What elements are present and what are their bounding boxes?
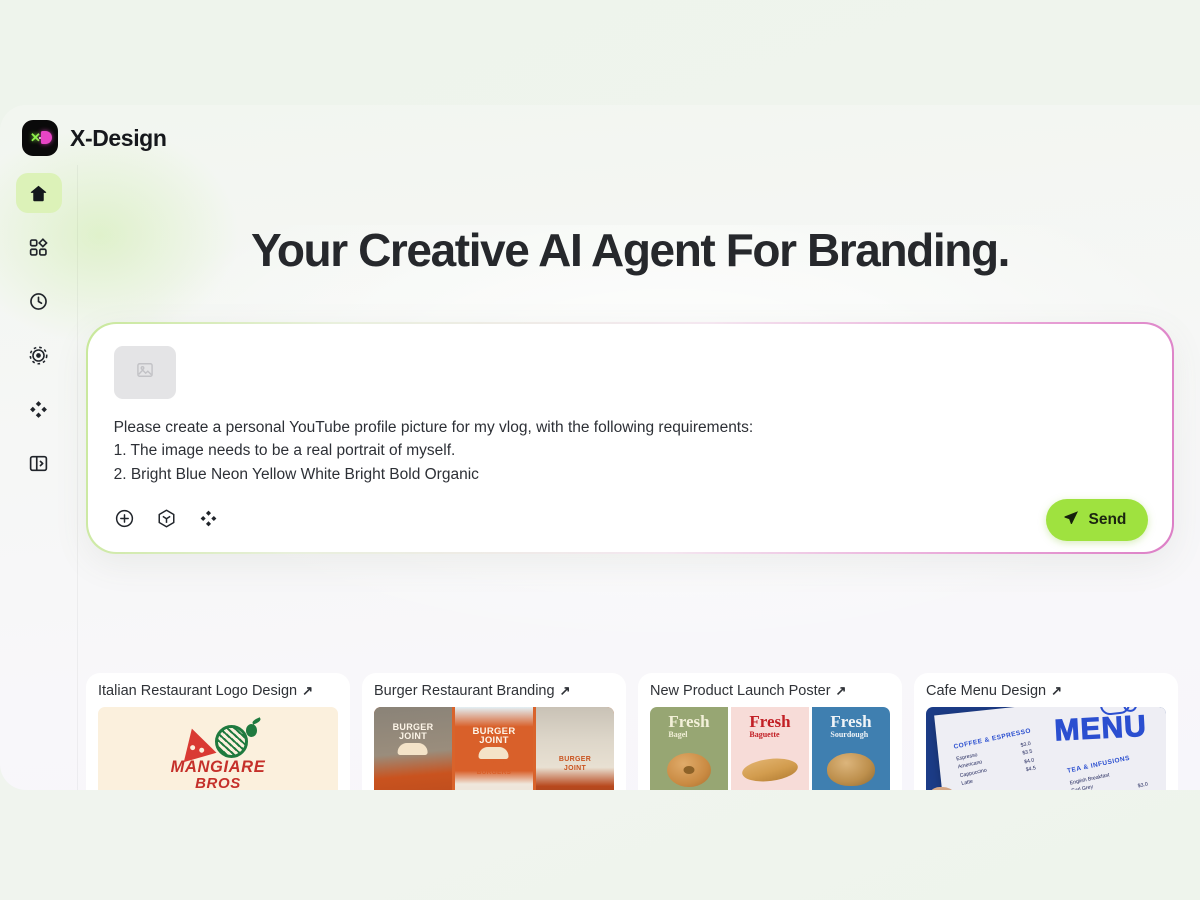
poster-bagel: Fresh Bagel Happiness [650, 707, 728, 790]
sidebar-item-panel-toggle[interactable] [16, 443, 62, 483]
poster-subtitle: Sourdough [830, 730, 871, 739]
prompt-line-1: Please create a personal YouTube profile… [114, 416, 1147, 440]
sidebar-item-history[interactable] [16, 281, 62, 321]
badge-line-2: JOINT [473, 736, 516, 745]
menu-item-price [1145, 772, 1147, 780]
burger-joint-badge: BURGER JOINT [393, 723, 434, 755]
gallery-card-title-text: Burger Restaurant Branding [374, 683, 555, 699]
menu-item-price [1143, 764, 1145, 772]
gallery-card-preview: MANGIARE BROS ITALIAN RESTAURANT [98, 707, 338, 790]
poster-baguette: Fresh Baguette Happiness [731, 707, 809, 790]
plus-circle-icon[interactable] [114, 508, 135, 534]
menu-item-price: $3.0 [1137, 780, 1149, 790]
olive-icon [246, 724, 257, 737]
gallery-card-title: Cafe Menu Design ↗ [926, 683, 1166, 699]
prompt-text[interactable]: Please create a personal YouTube profile… [114, 416, 1147, 487]
burger-photo-storefront: BURGER JOINT [374, 707, 452, 790]
gallery-card-product-poster[interactable]: New Product Launch Poster ↗ Fresh Bagel … [638, 673, 902, 790]
gallery-card-title-text: New Product Launch Poster [650, 683, 831, 699]
gallery-card-title-text: Italian Restaurant Logo Design [98, 683, 297, 699]
page-title: Your Creative AI Agent For Branding. [0, 223, 1200, 277]
menu-coffee-section: COFFEE & ESPRESSO Espresso$3.0 Americano… [953, 727, 1040, 788]
sidebar-item-home[interactable] [16, 173, 62, 213]
target-orbit-icon [28, 345, 49, 366]
external-link-arrow-icon: ↗ [1051, 683, 1062, 699]
gallery-card-title: Italian Restaurant Logo Design ↗ [98, 683, 338, 699]
gallery-card-burger-branding[interactable]: Burger Restaurant Branding ↗ BURGER JOIN… [362, 673, 626, 790]
poster-sourdough: Fresh Sourdough Happiness [812, 707, 890, 790]
image-placeholder-icon [135, 360, 155, 385]
brand-logo[interactable]: ✕ X-Design [22, 120, 166, 156]
gallery-cards: Italian Restaurant Logo Design ↗ MANGIAR… [86, 673, 1178, 790]
prompt-line-3: 2. Bright Blue Neon Yellow White Bright … [114, 463, 1147, 487]
poster-headline: Fresh [668, 714, 709, 729]
external-link-arrow-icon: ↗ [836, 683, 847, 699]
badge-line-2: JOINT [393, 732, 434, 741]
menu-item-price: $4.5 [1025, 765, 1037, 776]
clock-history-icon [28, 291, 49, 312]
badge-line-1: BURGER [559, 755, 591, 764]
gallery-card-italian-logo[interactable]: Italian Restaurant Logo Design ↗ MANGIAR… [86, 673, 350, 790]
home-icon [28, 183, 49, 204]
paper-plane-icon [1063, 509, 1080, 531]
x-design-logo-icon: ✕ [22, 120, 58, 156]
burger-photo-packaging: BURGER JOINT [536, 707, 614, 790]
menu-tea-section: TEA & INFUSIONS English Breakfast Earl G… [1067, 752, 1149, 790]
diamond-cluster-icon [28, 399, 49, 420]
send-button-label: Send [1089, 511, 1127, 529]
brand-name: X-Design [70, 125, 166, 152]
gallery-card-preview: BURGER JOINT BURGER JOINT CRAFT BURGERS [374, 707, 614, 790]
attachment-thumbnail[interactable] [114, 346, 176, 399]
gallery-card-preview: MENU COFFEE & ESPRESSO Espresso$3.0 Amer… [926, 707, 1166, 790]
burger-photo-interior: BURGER JOINT CRAFT BURGERS [455, 707, 533, 790]
burger-bun-shape [479, 747, 509, 759]
cafe-menu-sheet: MENU COFFEE & ESPRESSO Espresso$3.0 Amer… [934, 707, 1166, 790]
pasta-swirl-icon [215, 725, 248, 758]
panel-toggle-icon [28, 453, 49, 474]
poster-headline: Fresh [830, 714, 871, 729]
prompt-card-border: Please create a personal YouTube profile… [86, 322, 1174, 554]
diamond-cluster-icon[interactable] [198, 508, 219, 534]
poster-subtitle: Bagel [668, 730, 709, 739]
sidebar-item-effects[interactable] [16, 389, 62, 429]
italian-logo-name2: BROS [195, 775, 241, 790]
burger-bun-shape [398, 743, 428, 755]
send-button[interactable]: Send [1046, 499, 1149, 541]
gallery-card-title-text: Cafe Menu Design [926, 683, 1046, 699]
app-panel: ✕ X-Design [0, 105, 1200, 790]
external-link-arrow-icon: ↗ [302, 683, 313, 699]
gallery-card-title: Burger Restaurant Branding ↗ [374, 683, 614, 699]
gallery-card-cafe-menu[interactable]: Cafe Menu Design ↗ MENU COFFEE & ESPRESS… [914, 673, 1178, 790]
menu-word: MENU [1053, 710, 1147, 749]
menu-item-name: Latte [961, 778, 974, 789]
prompt-toolbar [114, 508, 219, 534]
sidebar-item-target[interactable] [16, 335, 62, 375]
burger-joint-badge: BURGER JOINT [559, 755, 591, 773]
baguette-image [741, 755, 799, 784]
pizza-slice-icon [176, 724, 217, 762]
gallery-card-preview: Fresh Bagel Happiness Fresh Baguette Hap… [650, 707, 890, 790]
cube-3d-icon[interactable] [156, 508, 177, 534]
gallery-card-title: New Product Launch Poster ↗ [650, 683, 890, 699]
prompt-line-2: 1. The image needs to be a real portrait… [114, 439, 1147, 463]
burger-tagline: CRAFT BURGERS [475, 759, 514, 777]
poster-headline: Fresh [749, 714, 790, 729]
italian-logo-art [179, 722, 257, 758]
bagel-image [667, 753, 711, 787]
sourdough-image [827, 753, 875, 786]
logo-d-glyph [41, 131, 52, 144]
poster-subtitle: Baguette [749, 730, 790, 739]
badge-line-2: JOINT [559, 764, 591, 773]
burger-joint-badge: BURGER JOINT [473, 727, 516, 759]
prompt-card[interactable]: Please create a personal YouTube profile… [88, 324, 1173, 553]
external-link-arrow-icon: ↗ [560, 683, 571, 699]
